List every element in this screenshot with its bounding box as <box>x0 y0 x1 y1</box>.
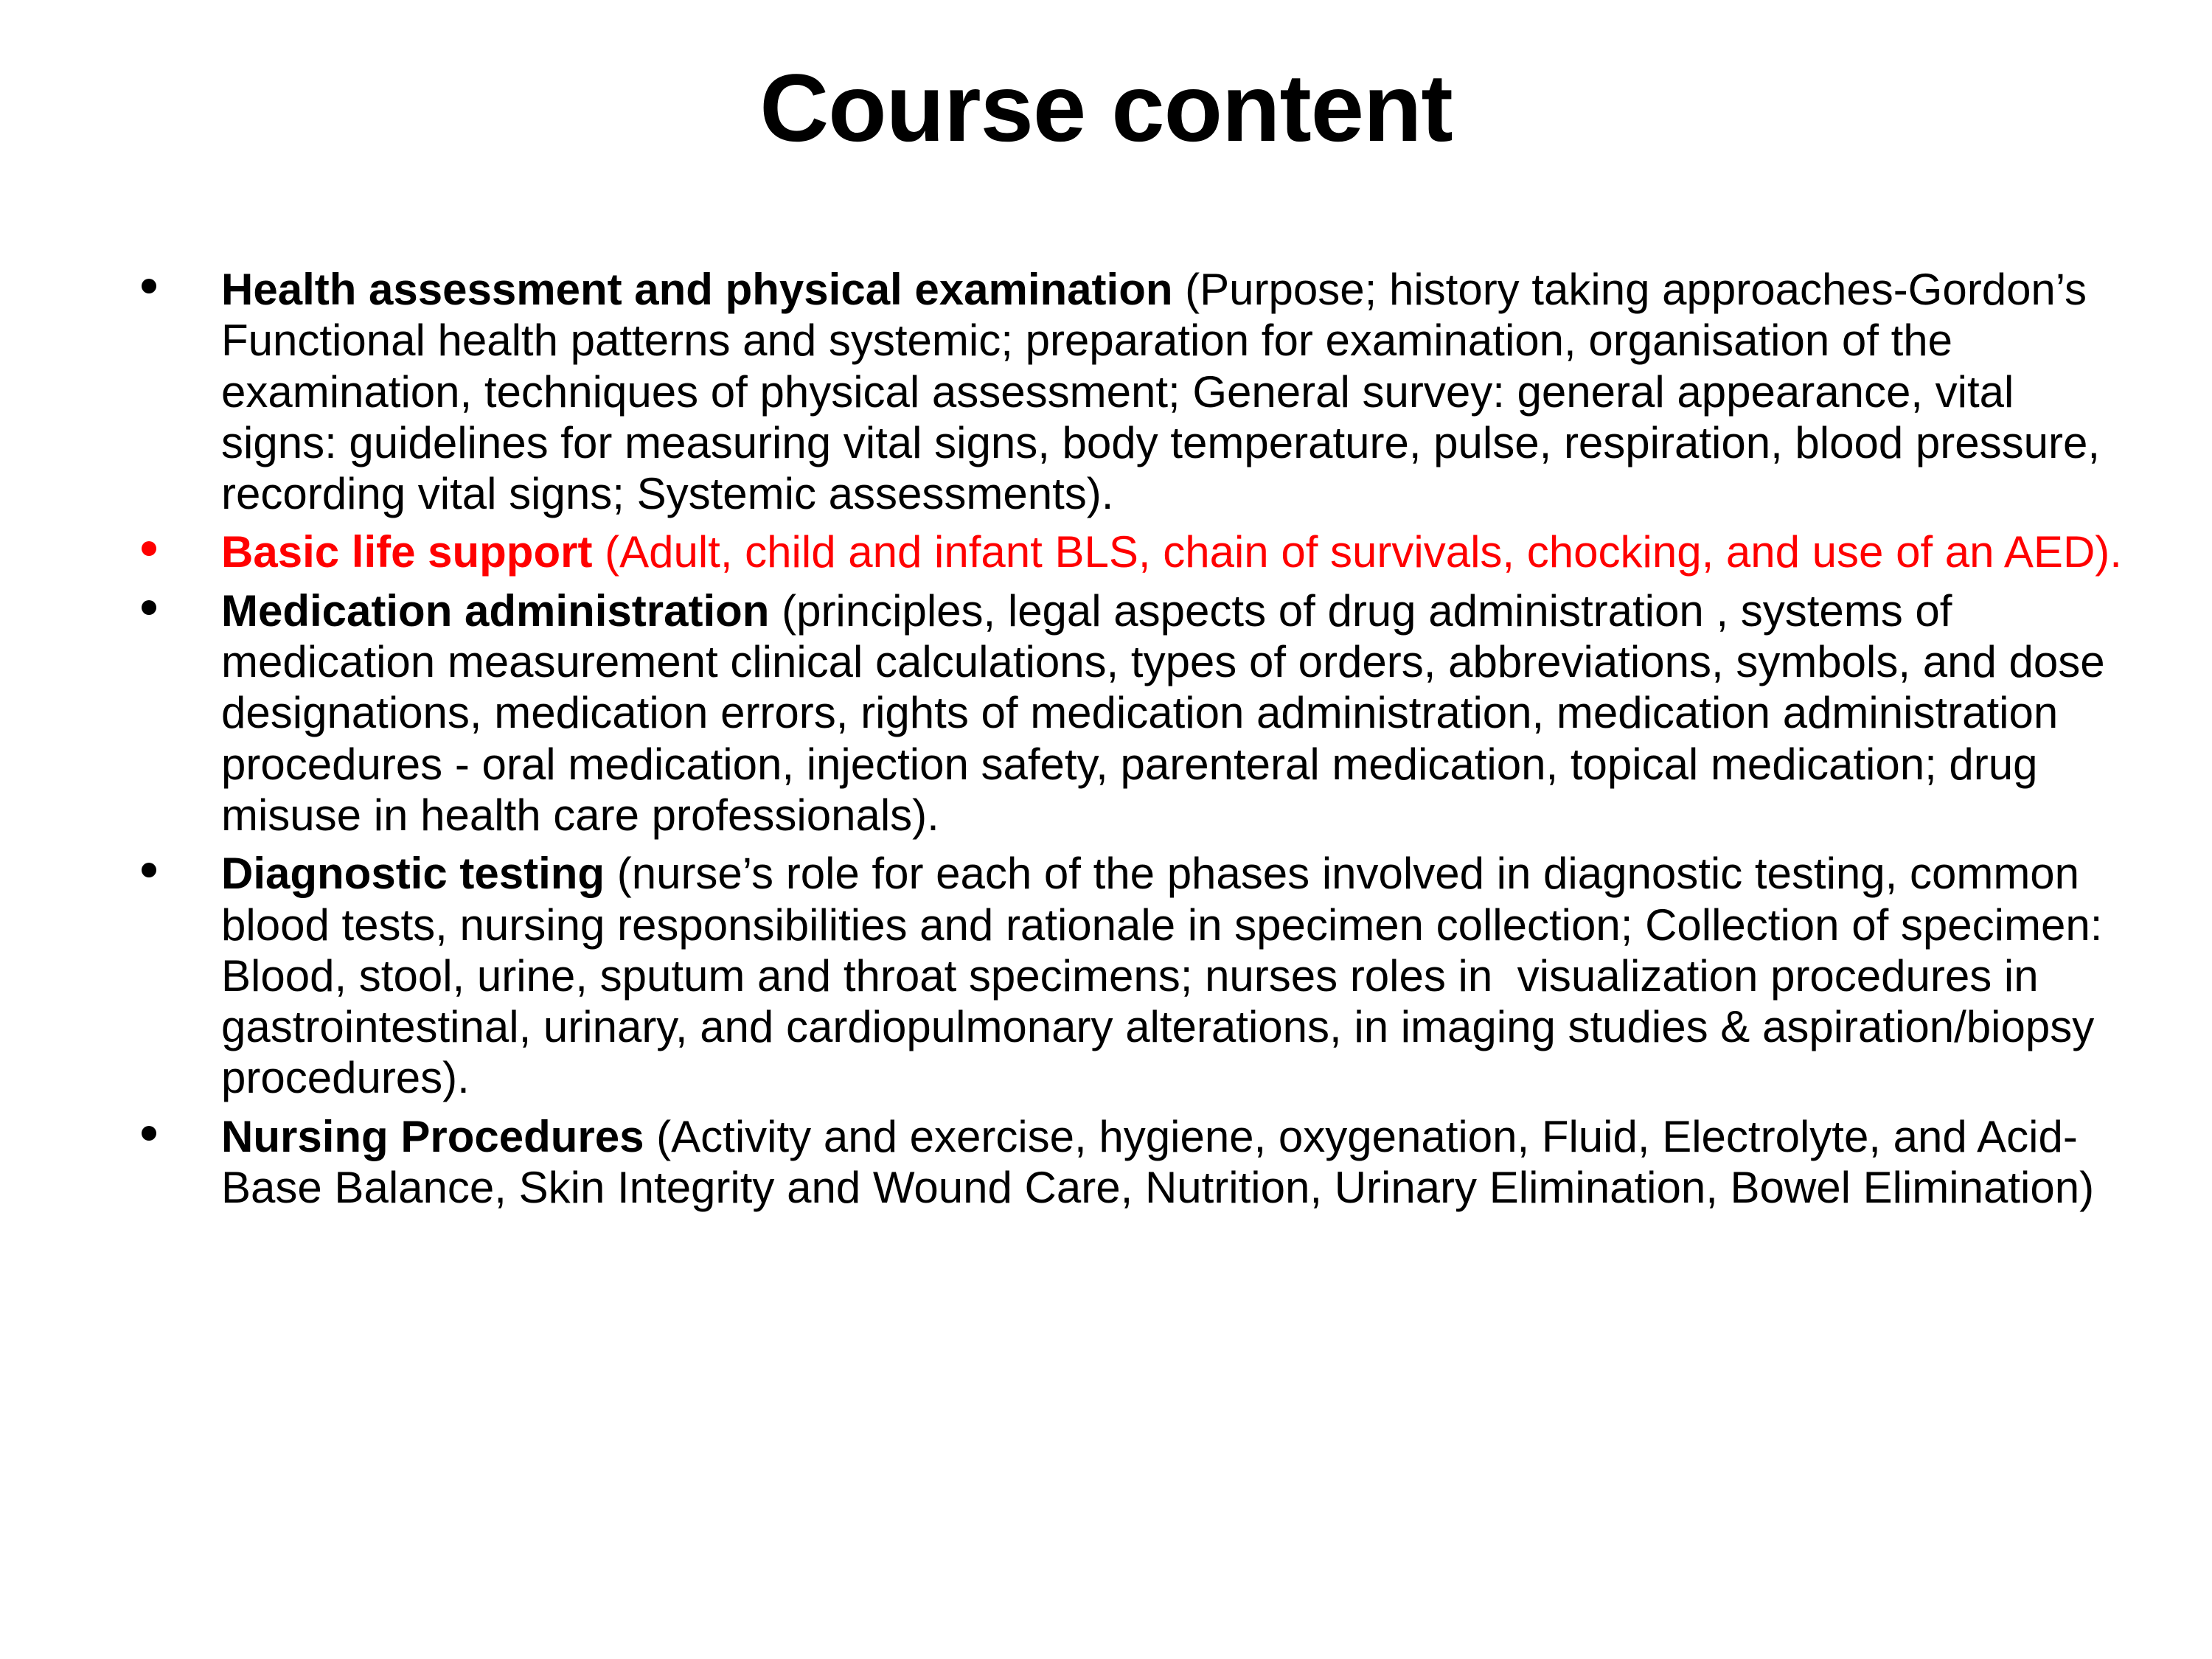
bullet-detail-text: (Adult, child and infant BLS, chain of s… <box>592 527 2121 577</box>
bullet-lead-label: Basic life support <box>221 527 592 577</box>
bullet-lead-label: Diagnostic testing <box>221 849 605 898</box>
list-item: Nursing Procedures (Activity and exercis… <box>133 1111 2138 1214</box>
bullet-dot-icon <box>142 279 156 293</box>
bullet-dot-icon <box>142 600 156 615</box>
page-title: Course content <box>0 0 2212 157</box>
bullet-lead-label: Nursing Procedures <box>221 1112 644 1161</box>
bullet-dot-icon <box>142 541 156 556</box>
bullet-lead-label: Health assessment and physical examinati… <box>221 265 1173 314</box>
bullet-dot-icon <box>142 1126 156 1141</box>
list-item: Diagnostic testing (nurse’s role for eac… <box>133 848 2138 1103</box>
bullet-dot-icon <box>142 863 156 877</box>
list-item: Basic life support (Adult, child and inf… <box>133 526 2138 577</box>
slide-canvas: Course content Health assessment and phy… <box>0 0 2212 1659</box>
list-item: Medication administration (principles, l… <box>133 585 2138 841</box>
course-content-bullet-list: Health assessment and physical examinati… <box>133 264 2138 1213</box>
list-item: Health assessment and physical examinati… <box>133 264 2138 519</box>
bullet-lead-label: Medication administration <box>221 586 769 636</box>
